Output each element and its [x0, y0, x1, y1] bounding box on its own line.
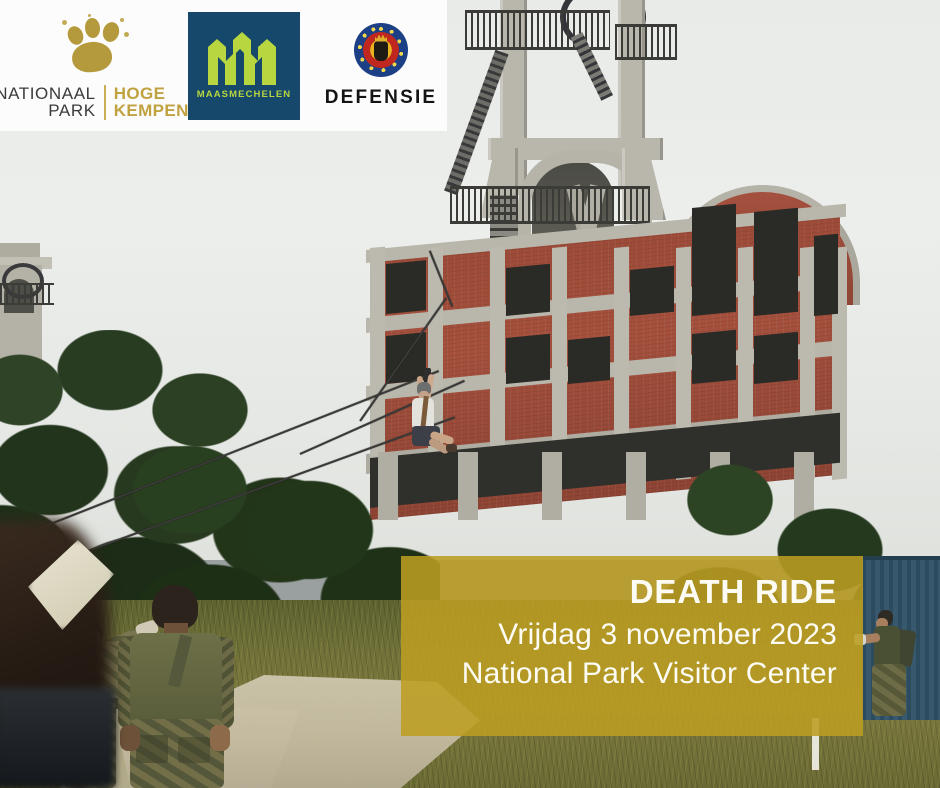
- np-label-line3: HOGE: [114, 85, 189, 102]
- event-title: DEATH RIDE: [415, 574, 837, 611]
- np-label-line4: KEMPEN: [114, 102, 189, 119]
- paw-print-icon: [58, 16, 132, 72]
- mm-monogram-icon: [206, 31, 282, 87]
- zipline-rider: [398, 368, 454, 456]
- np-label-line1: NATIONAAL: [0, 85, 96, 102]
- event-date: Vrijdag 3 november 2023: [415, 615, 837, 654]
- np-label-line2: PARK: [0, 102, 96, 119]
- defence-roundel-icon: [354, 23, 408, 77]
- logo-divider: [104, 85, 106, 120]
- sponsor-logo-bar: NATIONAAL PARK HOGE KEMPEN MAASMECHELEN: [0, 0, 447, 131]
- logo-nationaal-park-hoge-kempen: NATIONAAL PARK HOGE KEMPEN: [8, 12, 176, 120]
- running-soldier: [862, 608, 924, 728]
- blurred-foreground-device: [0, 688, 115, 788]
- event-venue: National Park Visitor Center: [415, 654, 837, 693]
- event-poster: NATIONAAL PARK HOGE KEMPEN MAASMECHELEN: [0, 0, 940, 788]
- soldier-foreground: [120, 585, 235, 788]
- maasmechelen-wordmark: MAASMECHELEN: [197, 89, 291, 100]
- caption-panel: DEATH RIDE Vrijdag 3 november 2023 Natio…: [401, 556, 863, 736]
- logo-defensie: DEFENSIE: [316, 12, 446, 120]
- defensie-wordmark: DEFENSIE: [325, 87, 438, 109]
- logo-maasmechelen: MAASMECHELEN: [188, 12, 300, 120]
